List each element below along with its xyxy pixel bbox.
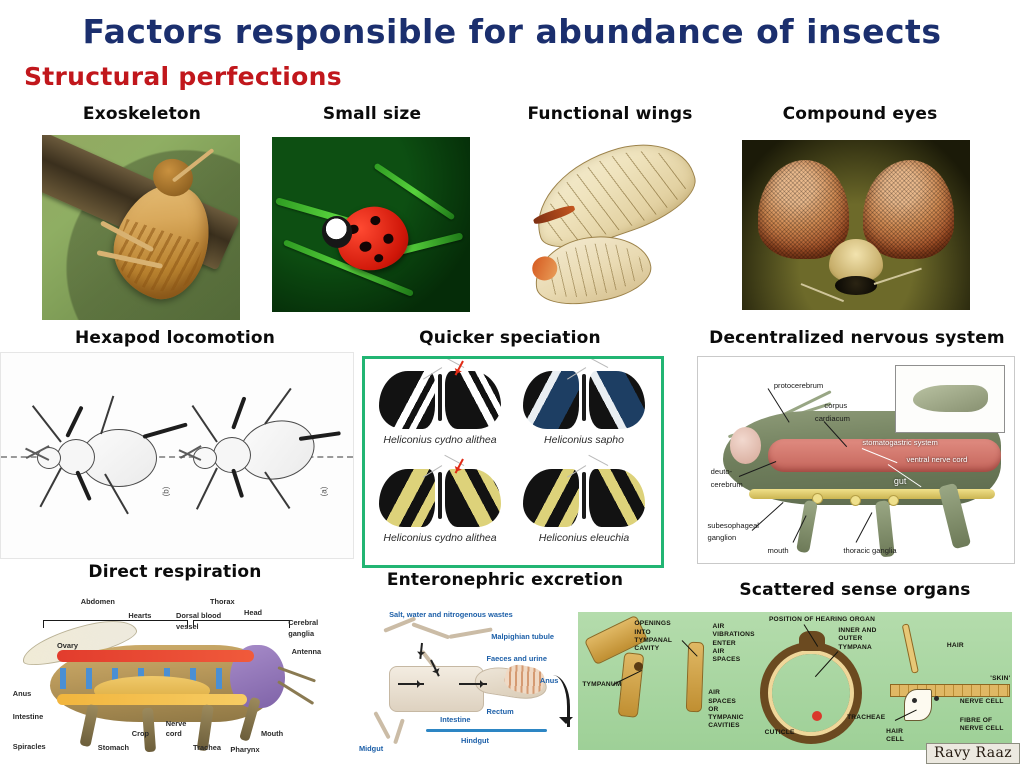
nerve-cord-structure: [57, 694, 247, 705]
panel-label-hexapod: Hexapod locomotion: [20, 328, 330, 348]
label-intestine: Intestine: [440, 715, 470, 724]
label-anus: Anus: [540, 676, 558, 685]
label-spiracles: Spiracles: [13, 742, 46, 751]
diagram-hexapod-locomotion: (b) (a): [0, 352, 354, 559]
panel-label-respiration: Direct respiration: [10, 562, 340, 582]
label-nerve-cell: NERVE CELL: [960, 698, 1004, 706]
label-head: Head: [244, 608, 262, 617]
label-tracheae: TRACHEAE: [847, 714, 885, 722]
label-faeces-urine: Faeces and urine: [487, 654, 547, 663]
sensory-hair: [902, 623, 919, 673]
section-title: Structural perfections: [24, 62, 342, 91]
hearing-organ: [799, 631, 825, 651]
label-intestine: Intestine: [13, 712, 43, 721]
butterfly-body: [438, 374, 443, 420]
label-openings: OPENINGS: [634, 620, 670, 628]
butterfly-wing-left: [379, 371, 435, 429]
diagram-scattered-sense-organs: OPENINGS INTO TYMPANAL CAVITY AIR VIBRAT…: [578, 612, 1012, 750]
label-hindgut: Hindgut: [461, 736, 489, 745]
label-into: INTO: [634, 629, 650, 637]
label-spaces: SPACES: [713, 656, 741, 664]
label-tympanic: TYMPANIC: [708, 714, 744, 722]
label-tympana: TYMPANA: [838, 644, 872, 652]
label-cuticle: CUTICLE: [765, 729, 795, 737]
label-corpus: corpus: [824, 402, 847, 411]
label-cerebral: Cerebral: [288, 618, 318, 627]
grasshopper-inset-photo: [895, 365, 1004, 433]
beetle-leg-swing: [264, 388, 291, 425]
label-protocerebrum: protocerebrum: [774, 382, 823, 391]
beetle-leg-swing: [192, 405, 218, 443]
diagram-nervous-system: protocerebrum corpus cardiacum stomatoga…: [697, 356, 1015, 564]
butterfly-wing-right: [445, 371, 501, 429]
label-inner-and: INNER AND: [838, 627, 876, 635]
label-mouth: Mouth: [261, 729, 283, 738]
ladybug-spot: [359, 240, 372, 252]
label-nerve-cell-2: NERVE CELL: [960, 725, 1004, 733]
butterfly-antenna: [589, 357, 609, 368]
compound-eye-left: [758, 160, 849, 259]
gut-caecum: [393, 718, 405, 744]
beetle-figure-a: (a): [181, 397, 341, 513]
label-cord: cord: [166, 729, 182, 738]
label-cavity: CAVITY: [634, 645, 659, 653]
butterfly-body: [582, 472, 587, 518]
species-name-1: Heliconius cydno alithea: [379, 434, 501, 446]
label-spaces-2: SPACES: [708, 698, 736, 706]
watermark: Ravy Raaz: [926, 743, 1020, 764]
label-cerebrum: cerebrum: [711, 481, 743, 490]
dragonfly-mouthparts: [835, 276, 876, 295]
photo-compound-eyes: [742, 140, 970, 310]
label-antenna: Antenna: [292, 647, 322, 656]
label-cardiacum: cardiacum: [815, 415, 850, 424]
label-vibrations: VIBRATIONS: [713, 631, 755, 639]
photo-exoskeleton: [42, 135, 240, 320]
hindgut-underline: [426, 729, 547, 732]
label-air-2: AIR: [713, 648, 725, 656]
butterfly-wing-right: [589, 371, 645, 429]
panel-label-speciation: Quicker speciation: [360, 328, 660, 348]
label-salt-water-wastes: Salt, water and nitrogenous wastes: [389, 610, 513, 619]
label-pharynx: Pharynx: [230, 745, 259, 754]
label-hair: HAIR: [947, 642, 964, 650]
figure-caption-a: (a): [319, 487, 328, 497]
label-air: AIR: [713, 623, 725, 631]
label-ganglia: ganglia: [288, 629, 314, 638]
beetle-leg-support: [231, 468, 244, 498]
label-or: OR: [708, 706, 718, 714]
label-skin: 'SKIN': [990, 675, 1010, 683]
label-enter: ENTER: [713, 640, 736, 648]
butterfly-4: Heliconius eleuchia: [523, 469, 645, 527]
bee-antenna-2: [277, 680, 314, 704]
diagram-direct-respiration: Abdomen Thorax Hearts Dorsal blood vesse…: [6, 592, 346, 768]
label-hair-2: HAIR: [886, 728, 903, 736]
label-nerve: Nerve: [166, 719, 187, 728]
label-fibre-of: FIBRE OF: [960, 717, 992, 725]
panel-label-excretion: Enteronephric excretion: [355, 570, 655, 590]
panel-label-small-size: Small size: [272, 104, 472, 124]
butterfly-body: [438, 472, 443, 518]
butterfly-wing-right: [589, 469, 645, 527]
butterfly-1: Heliconius cydno alithea: [379, 371, 501, 429]
butterfly-wing-right: [445, 469, 501, 527]
slide-root: Factors responsible for abundance of ins…: [0, 0, 1024, 768]
whole-grasshopper: [913, 385, 988, 413]
label-ovary: Ovary: [57, 641, 78, 650]
label-rectum: Rectum: [487, 707, 514, 716]
label-midgut: Midgut: [359, 744, 383, 753]
species-name-4: Heliconius eleuchia: [523, 532, 645, 544]
beetle-thorax: [57, 439, 95, 475]
label-tympanal: TYMPANAL: [634, 637, 672, 645]
label-vessel: vessel: [176, 622, 199, 631]
butterfly-body: [582, 374, 587, 420]
label-ventral-nerve-cord: ventral nerve cord: [907, 456, 968, 465]
label-stomach: Stomach: [98, 743, 129, 752]
ladybug-spot: [382, 233, 394, 244]
panel-label-exoskeleton: Exoskeleton: [42, 104, 242, 124]
page-title: Factors responsible for abundance of ins…: [0, 12, 1024, 51]
photo-small-size: [272, 137, 470, 312]
label-malpighian-tubule: Malpighian tubule: [491, 632, 554, 641]
thoracic-ganglion: [850, 495, 861, 506]
label-anus: Anus: [13, 689, 31, 698]
plate-quicker-speciation: Heliconius cydno alithea Heliconius saph…: [362, 356, 664, 568]
photo-functional-wings: [505, 135, 710, 320]
label-air-3: AIR: [708, 689, 720, 697]
panel-label-wings: Functional wings: [500, 104, 720, 124]
species-name-3: Heliconius cydno alithea: [379, 532, 501, 544]
label-thorax: Thorax: [210, 597, 235, 606]
panel-label-sense-organs: Scattered sense organs: [700, 580, 1010, 600]
label-deuto: deuto-: [711, 468, 733, 477]
brain-structure: [730, 427, 762, 464]
ladybug-spot: [370, 215, 382, 226]
hair-cell: [904, 689, 932, 721]
bracket-thorax: [193, 620, 290, 628]
ladybug-spot: [374, 253, 385, 263]
label-cavities: CAVITIES: [708, 722, 740, 730]
label-ganglion: ganglion: [707, 534, 736, 543]
nerve-cell-nucleus: [912, 698, 917, 703]
butterfly-wing-left: [523, 371, 579, 429]
label-hearts: Hearts: [128, 611, 151, 620]
bracket-abdomen: [43, 620, 188, 628]
beetle-leg-swing: [39, 468, 61, 508]
label-dorsal-blood: Dorsal blood: [176, 611, 221, 620]
label-outer: OUTER: [838, 635, 862, 643]
beetle-leg-swing: [196, 468, 218, 510]
compound-eye-right: [863, 160, 954, 259]
label-thoracic-ganglia: thoracic ganglia: [843, 547, 896, 556]
malpighian-tubule: [412, 622, 451, 639]
dorsal-vessel-structure: [57, 650, 254, 662]
label-trachea: Trachea: [193, 743, 221, 752]
beetle-leg-support: [65, 406, 83, 438]
figure-caption-b: (b): [161, 487, 170, 497]
label-position-hearing-organ: POSITION OF HEARING ORGAN: [769, 616, 875, 624]
beetle-leg-swing: [32, 405, 62, 442]
flow-arrow: [398, 683, 424, 685]
flow-arrow: [459, 683, 487, 685]
butterfly-wing-left: [379, 469, 435, 527]
panel-label-compound-eyes: Compound eyes: [745, 104, 975, 124]
label-mouth: mouth: [768, 547, 789, 556]
beetle-leg-support: [231, 396, 246, 429]
butterfly-2: Heliconius sapho: [523, 371, 645, 429]
butterfly-3: Heliconius cydno alithea: [379, 469, 501, 527]
label-cell: CELL: [886, 736, 904, 744]
flow-arrow: [419, 643, 423, 659]
nerve-cell-nucleus: [934, 696, 939, 701]
diagram-enteronephric-excretion: Salt, water and nitrogenous wastes Malpi…: [352, 598, 584, 768]
beetle-figure-b: (b): [31, 401, 181, 511]
gut-caecum: [373, 711, 391, 739]
panel-label-nervous: Decentralized nervous system: [690, 328, 1024, 348]
butterfly-wing-left: [523, 469, 579, 527]
leader-line: [751, 502, 783, 531]
label-abdomen: Abdomen: [81, 597, 115, 606]
beetle-thorax: [213, 437, 251, 473]
leader-line: [856, 513, 873, 543]
species-name-2: Heliconius sapho: [523, 434, 645, 446]
butterfly-antenna: [589, 455, 609, 466]
label-crop: Crop: [132, 729, 149, 738]
malpighian-tubule: [449, 628, 493, 640]
label-stomatogastric: stomatogastric system: [862, 439, 938, 448]
label-gut: gut: [894, 476, 907, 486]
